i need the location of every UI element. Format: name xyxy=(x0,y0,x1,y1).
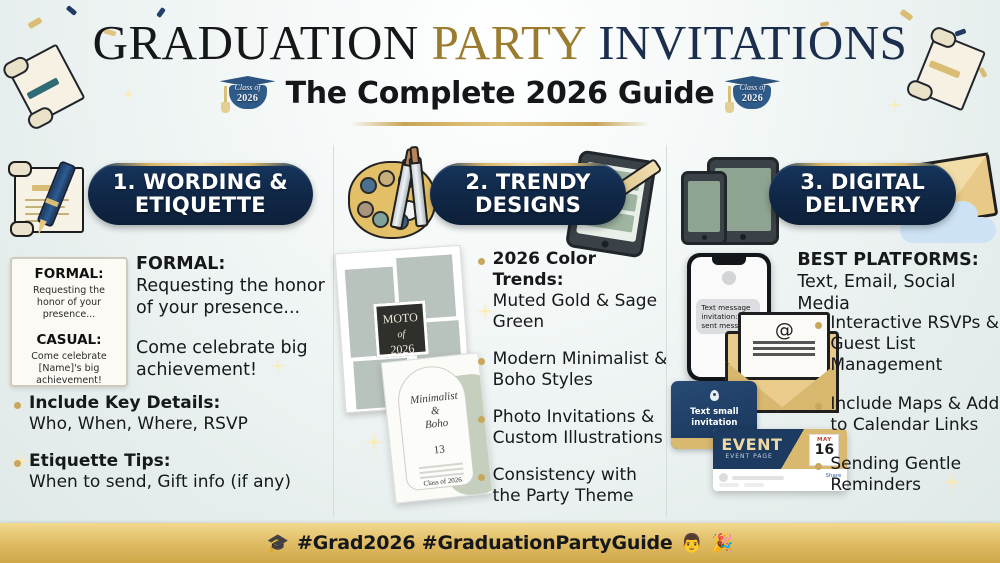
event-card-title: EVENT xyxy=(721,435,782,454)
list-item: Photo Invitations & Custom Illustrations xyxy=(478,407,668,449)
bullet-dot-icon xyxy=(815,463,822,470)
column-3-banner-area: 3. DIGITAL DELIVERY xyxy=(667,145,1000,231)
column-3-bullets: Interactive RSVPs & Guest List Managemen… xyxy=(815,313,1000,512)
event-card-subtitle: EVENT PAGE xyxy=(725,453,772,460)
bullet-text: Muted Gold & Sage Green xyxy=(493,291,657,332)
bullet-dot-icon xyxy=(478,474,485,481)
list-item: Etiquette Tips: When to send, Gift info … xyxy=(14,451,324,493)
text-card-line-2: invitation xyxy=(691,418,737,428)
banner-pill-2: 2. TRENDY DESIGNS xyxy=(430,163,627,225)
location-pin-icon xyxy=(710,390,719,401)
devices-icon xyxy=(681,157,777,243)
event-card-meta-row xyxy=(719,473,784,482)
wording-sample-card: FORMAL: Requesting the honor of your pre… xyxy=(10,257,128,387)
graduation-cap-icon: Class of 2026 xyxy=(220,74,276,114)
collage-moto-label: MOTO of 2026 xyxy=(373,300,429,357)
list-item: Include Key Details: Who, When, Where, R… xyxy=(14,393,324,435)
page-subtitle: The Complete 2026 Guide xyxy=(286,76,715,111)
scroll-and-pen-icon xyxy=(8,159,100,237)
placeholder-line xyxy=(732,476,784,480)
best-platforms-label: BEST PLATFORMS: xyxy=(797,250,978,270)
bullet-dot-icon xyxy=(478,416,485,423)
moto-line-1: MOTO xyxy=(382,310,418,326)
column-digital-delivery: 3. DIGITAL DELIVERY Text message invitat… xyxy=(666,145,1000,517)
column-2-title: 2. TRENDY DESIGNS xyxy=(430,171,627,217)
column-3-headline-block: BEST PLATFORMS: Text, Email, Social Medi… xyxy=(797,249,1000,315)
bullet-dot-icon xyxy=(478,258,485,265)
sample-casual-text: Come celebrate [Name]'s big achievement! xyxy=(20,351,118,387)
column-2-banner-area: 2. TRENDY DESIGNS xyxy=(334,145,667,231)
sample-formal-label: FORMAL: xyxy=(18,266,120,282)
list-item: Consistency with the Party Theme xyxy=(478,465,668,507)
badge-class-of-label: Class of xyxy=(235,83,261,92)
infographic-poster: GRADUATION PARTY INVITATIONS Class of 20… xyxy=(0,0,1000,563)
formal-headline-label: FORMAL: xyxy=(136,254,225,274)
bullet-text: Include Maps & Add to Calendar Links xyxy=(830,394,1000,436)
bullet-dot-icon xyxy=(14,460,21,467)
bullet-title: 2026 Color Trends: xyxy=(493,249,596,290)
footer-hashtags: #Grad2026 #GraduationPartyGuide xyxy=(297,532,673,554)
column-1-title: 1. WORDING & ETIQUETTE xyxy=(88,171,313,217)
columns-container: 1. WORDING & ETIQUETTE FORMAL: Requestin… xyxy=(0,145,1000,517)
bullet-text: Photo Invitations & Custom Illustrations xyxy=(493,407,668,449)
banner-pill-3: 3. DIGITAL DELIVERY xyxy=(769,163,956,225)
column-1-bullets: Include Key Details: Who, When, Where, R… xyxy=(14,393,324,509)
formal-headline-text: Requesting the honor of your presence... xyxy=(136,276,325,318)
avatar xyxy=(719,473,728,482)
column-trendy-designs: 2. TRENDY DESIGNS MOTO of 2026 Minimalis xyxy=(333,145,667,517)
badge-class-of-label: Class of xyxy=(739,83,765,92)
title-word-party: PARTY xyxy=(432,15,586,70)
avatar xyxy=(722,271,736,285)
best-platforms-text: Text, Email, Social Media xyxy=(797,272,955,314)
footer-bar: 🎓 #Grad2026 #GraduationPartyGuide 👨 🎉 xyxy=(0,523,1000,563)
poster-header: GRADUATION PARTY INVITATIONS Class of 20… xyxy=(0,0,1000,126)
party-popper-icon: 🎉 xyxy=(711,534,733,552)
sample-formal-text: Requesting the honor of your presence... xyxy=(20,285,118,321)
bullet-dot-icon xyxy=(815,322,822,329)
moto-line-2: of xyxy=(397,329,406,341)
bullet-dot-icon xyxy=(478,358,485,365)
bullet-text: Interactive RSVPs & Guest List Managemen… xyxy=(830,313,1000,376)
bullet-dot-icon xyxy=(815,403,822,410)
minimalist-invite-card: Minimalist & Boho 13 Class of 2026 xyxy=(381,352,493,503)
invite-line-3: Boho xyxy=(424,417,448,431)
event-card-footer-row xyxy=(719,483,764,487)
best-platforms-headline: BEST PLATFORMS: Text, Email, Social Medi… xyxy=(797,249,1000,315)
column-1-headline-block: FORMAL: Requesting the honor of your pre… xyxy=(136,253,326,381)
bullet-text: When to send, Gift info (if any) xyxy=(29,472,291,492)
formal-headline: FORMAL: Requesting the honor of your pre… xyxy=(136,253,326,319)
list-item: 2026 Color Trends: Muted Gold & Sage Gre… xyxy=(478,249,668,333)
bullet-title: Etiquette Tips: xyxy=(29,451,171,471)
bullet-dot-icon xyxy=(14,402,21,409)
person-icon: 👨 xyxy=(681,534,703,552)
sample-casual-label: CASUAL: xyxy=(18,332,120,348)
banner-pill-1: 1. WORDING & ETIQUETTE xyxy=(88,163,313,225)
column-2-bullets: 2026 Color Trends: Muted Gold & Sage Gre… xyxy=(478,249,668,523)
badge-year-label: 2026 xyxy=(724,93,780,104)
list-item: Modern Minimalist & Boho Styles xyxy=(478,349,668,391)
subtitle-row: Class of 2026 The Complete 2026 Guide Cl… xyxy=(0,74,1000,114)
column-3-title: 3. DIGITAL DELIVERY xyxy=(769,171,956,217)
list-item: Sending Gentle Reminders xyxy=(815,454,1000,496)
casual-headline: Come celebrate big achievement! xyxy=(136,337,326,381)
column-wording-etiquette: 1. WORDING & ETIQUETTE FORMAL: Requestin… xyxy=(0,145,333,517)
graduation-cap-icon: 🎓 xyxy=(267,534,289,552)
bullet-text: Sending Gentle Reminders xyxy=(830,454,1000,496)
text-card-line-1: Text small xyxy=(690,407,738,417)
title-word-graduation: GRADUATION xyxy=(93,15,419,70)
list-item: Include Maps & Add to Calendar Links xyxy=(815,394,1000,436)
badge-year-label: 2026 xyxy=(220,93,276,104)
title-word-invitations: INVITATIONS xyxy=(598,15,907,70)
bullet-text: Who, When, Where, RSVP xyxy=(29,414,248,434)
bullet-text: Modern Minimalist & Boho Styles xyxy=(493,349,668,391)
graduation-cap-icon: Class of 2026 xyxy=(724,74,780,114)
bullet-title: Include Key Details: xyxy=(29,393,220,413)
moto-line-3: 2026 xyxy=(390,341,415,357)
invite-line-2: & xyxy=(430,405,440,418)
page-title: GRADUATION PARTY INVITATIONS xyxy=(0,18,1000,68)
list-item: Interactive RSVPs & Guest List Managemen… xyxy=(815,313,1000,376)
column-1-banner-area: 1. WORDING & ETIQUETTE xyxy=(0,145,333,231)
bullet-text: Consistency with the Party Theme xyxy=(493,465,668,507)
header-divider xyxy=(350,122,650,126)
